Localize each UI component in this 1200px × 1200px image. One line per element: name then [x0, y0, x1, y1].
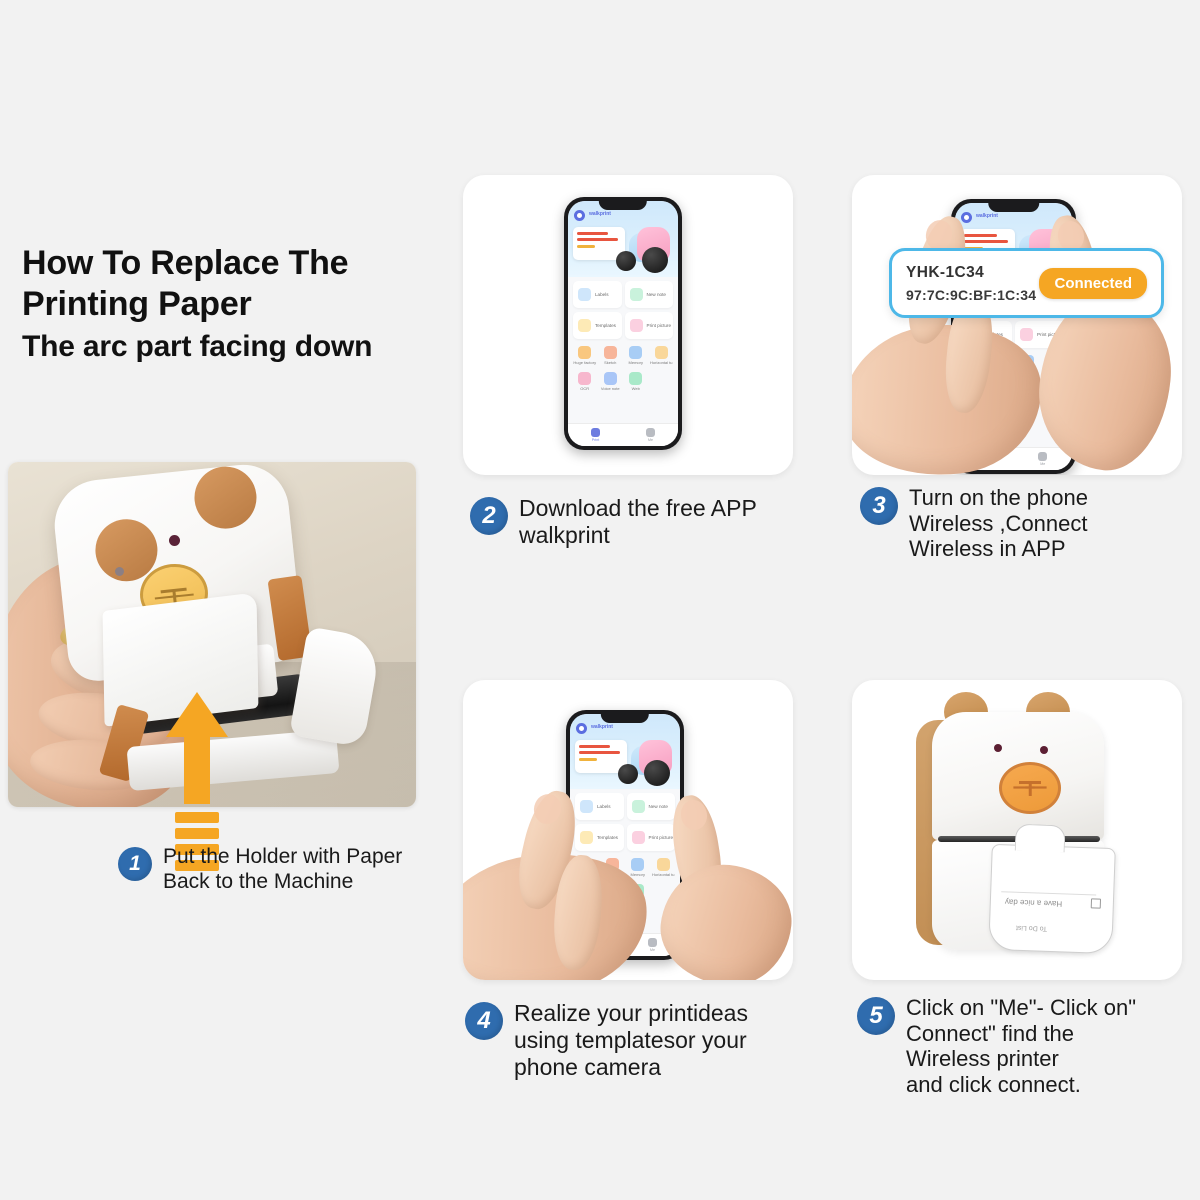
tile-row: Templates Print picture	[570, 820, 680, 851]
tab-label: Print	[981, 462, 988, 466]
promo-line	[577, 232, 608, 235]
app-tile-small[interactable]: Horizontal tu	[651, 858, 677, 877]
step-number-badge: 3	[860, 487, 898, 525]
voice-note-icon	[993, 381, 1006, 394]
promo-line	[964, 234, 997, 237]
arrow-trail-dash	[175, 812, 219, 823]
app-tile-templates[interactable]: Templates	[575, 824, 624, 851]
step-1: 1 Put the Holder with Paper Back to the …	[118, 845, 458, 894]
promo-printer-lens	[644, 760, 670, 786]
memory-icon	[629, 346, 642, 359]
printer-illustration: Have a nice day To Do List	[902, 694, 1137, 969]
tile-label: Memory	[631, 873, 645, 877]
tile-label: New note	[647, 292, 666, 297]
step-caption: Click on "Me"- Click on" Connect" find t…	[906, 995, 1136, 1098]
step-number-badge: 1	[118, 847, 152, 881]
step-3: 3 Turn on the phone Wireless ,Connect Wi…	[860, 485, 1190, 562]
app-tile-new-note[interactable]: New note	[625, 281, 674, 308]
ocr-icon	[966, 381, 979, 394]
app-tile-labels[interactable]: Labels	[573, 281, 622, 308]
app-tile-small[interactable]: Memory	[625, 858, 651, 877]
templates-icon	[578, 319, 591, 332]
app-brand-label: walkprint	[976, 213, 998, 219]
tile-label: Horizontal tu	[650, 361, 672, 365]
huge-factory-icon	[580, 858, 593, 871]
tile-label: Print picture	[647, 323, 672, 328]
tile-label: Web	[634, 899, 642, 903]
app-tile-small[interactable]: Huge factory	[572, 346, 598, 365]
bear-eye-left	[115, 567, 124, 576]
app-tile-spacer	[651, 884, 677, 903]
phone-mockup: walkprint	[564, 197, 682, 450]
card-step-2: walkprint	[463, 175, 793, 475]
phone-mockup: walkprint	[951, 199, 1076, 474]
arrow-shaft	[184, 730, 210, 804]
promo-printer-lens	[618, 764, 638, 784]
step-4: 4 Realize your printideas using template…	[465, 1000, 805, 1081]
tile-label: Sketch	[606, 873, 618, 877]
step-caption: Realize your printideas using templateso…	[514, 1000, 748, 1081]
print-tab-icon	[980, 452, 989, 461]
app-tile-small[interactable]: Horizontal tu	[649, 346, 675, 365]
tile-label: Horizontal tu	[1043, 370, 1065, 374]
tile-label: Print picture	[1037, 332, 1062, 337]
print-picture-icon	[1020, 328, 1033, 341]
sticker-text-sub: To Do List	[1016, 924, 1047, 932]
tile-label: Huge factory	[575, 873, 598, 877]
page-title: How To Replace The Printing Paper The ar…	[22, 243, 452, 365]
app-tile-small[interactable]: Sketch	[986, 355, 1013, 374]
web-icon	[631, 884, 644, 897]
tile-row: Templates Print picture	[955, 317, 1072, 348]
snout-line	[1029, 782, 1032, 796]
tab-print[interactable]: Print	[568, 424, 623, 446]
templates-icon	[580, 831, 593, 844]
fingernail	[531, 791, 564, 826]
step-2: 2 Download the free APP walkprint	[470, 495, 820, 549]
popup-text: YHK-1C34 97:7C:9C:BF:1C:34	[906, 264, 1039, 303]
voice-note-icon	[606, 884, 619, 897]
memory-icon	[1021, 355, 1034, 368]
tab-me[interactable]: Me	[623, 424, 678, 446]
tile-label: Voice note	[603, 899, 622, 903]
tile-label: Templates	[597, 835, 618, 840]
tile-row: Templates Print picture	[568, 308, 678, 339]
sketch-icon	[604, 346, 617, 359]
app-tile-small[interactable]: Huge factory	[959, 355, 986, 374]
app-tile-print-picture[interactable]: Print picture	[627, 824, 676, 851]
phone-screen: walkprint	[570, 714, 680, 956]
app-tile-grid: Labels New note Templates	[570, 789, 680, 956]
app-header: walkprint	[568, 201, 678, 277]
app-header: walkprint	[570, 714, 680, 789]
tile-label: Sketch	[994, 370, 1006, 374]
app-tab-bar: Print Me	[955, 447, 1072, 470]
app-tile-small[interactable]: OCR	[572, 372, 598, 391]
me-tab-icon	[646, 428, 655, 437]
app-brand-label: walkprint	[591, 724, 613, 730]
tile-label: Web	[632, 387, 640, 391]
templates-icon	[965, 328, 978, 341]
tile-row-small: OCR Voice note Web	[568, 365, 678, 391]
app-tile-templates[interactable]: Templates	[573, 312, 622, 339]
card-step-4: walkprint	[463, 680, 793, 980]
bear-eye-right	[1040, 746, 1048, 754]
promo-line	[577, 238, 618, 241]
app-tile-print-picture[interactable]: Print picture	[625, 312, 674, 339]
device-mac-address: 97:7C:9C:BF:1C:34	[906, 287, 1039, 303]
tile-label: Huge factory	[573, 361, 596, 365]
tile-label: Labels	[597, 804, 611, 809]
tile-label: Templates	[982, 332, 1003, 337]
print-tab-icon	[591, 428, 600, 437]
app-logo-icon	[961, 212, 972, 223]
tile-label: Print picture	[649, 835, 674, 840]
labels-icon	[580, 800, 593, 813]
app-tile-small[interactable]: OCR	[959, 381, 986, 400]
step-caption: Download the free APP walkprint	[519, 495, 757, 549]
tab-me[interactable]: Me	[625, 934, 680, 956]
print-picture-icon	[632, 831, 645, 844]
promo-printer-illustration	[625, 736, 678, 780]
app-tile-small[interactable]: OCR	[574, 884, 600, 903]
promo-line	[579, 745, 610, 748]
card-step-3: walkprint	[852, 175, 1182, 475]
tile-row: Labels New note	[570, 789, 680, 820]
app-tile-spacer	[1041, 381, 1068, 400]
tile-row-small: Huge factory Sketch Memory Horizont	[568, 339, 678, 365]
title-line-1: How To Replace The	[22, 243, 452, 284]
step-caption: Put the Holder with Paper Back to the Ma…	[163, 845, 402, 894]
title-line-3: The arc part facing down	[22, 329, 452, 365]
app-tab-bar: Print Me	[568, 423, 678, 446]
huge-factory-icon	[578, 346, 591, 359]
tile-label: Horizontal tu	[652, 873, 674, 877]
app-tile-small[interactable]: Memory	[623, 346, 649, 365]
tab-label: Me	[1040, 462, 1045, 466]
app-tab-bar: Print Me	[570, 933, 680, 956]
step-number-badge: 2	[470, 497, 508, 535]
tile-label: Huge factory	[961, 370, 984, 374]
ocr-icon	[578, 372, 591, 385]
sticker-checkbox	[1091, 898, 1101, 908]
sticker-tab	[1015, 824, 1066, 853]
app-tile-small[interactable]: Huge factory	[574, 858, 600, 877]
app-tile-new-note[interactable]: New note	[627, 793, 676, 820]
tab-print[interactable]: Print	[955, 448, 1014, 470]
status-badge-connected[interactable]: Connected	[1039, 268, 1147, 299]
infographic-stage: How To Replace The Printing Paper The ar…	[0, 0, 1200, 1200]
app-tile-small[interactable]: Sketch	[598, 346, 624, 365]
tile-row-small: OCR Voice note Web	[955, 374, 1072, 400]
tile-row: Labels New note	[568, 277, 678, 308]
phone-mockup: walkprint	[566, 710, 684, 960]
tile-label: OCR	[582, 899, 591, 903]
step-5: 5 Click on "Me"- Click on" Connect" find…	[857, 995, 1197, 1098]
huge-factory-icon	[966, 355, 979, 368]
app-tile-spacer	[649, 372, 675, 391]
me-tab-icon	[648, 938, 657, 947]
card-step-5: Have a nice day To Do List	[852, 680, 1182, 980]
phone-notch	[599, 201, 647, 210]
app-tile-small[interactable]: Horizontal tu	[1041, 355, 1068, 374]
app-tile-templates[interactable]: Templates	[960, 321, 1012, 348]
web-icon	[629, 372, 642, 385]
app-tile-small[interactable]: Memory	[1014, 355, 1041, 374]
new-note-icon	[630, 288, 643, 301]
phone-notch	[988, 203, 1039, 212]
promo-line	[579, 758, 597, 761]
horizontal-icon	[655, 346, 668, 359]
step-number-badge: 5	[857, 997, 895, 1035]
sketch-icon	[606, 858, 619, 871]
app-tile-small[interactable]: Web	[623, 372, 649, 391]
step-number-badge: 4	[465, 1002, 503, 1040]
tab-label: Me	[650, 948, 655, 952]
sticker-line	[1001, 891, 1096, 896]
tab-print[interactable]: Print	[570, 934, 625, 956]
print-picture-icon	[630, 319, 643, 332]
tab-label: Print	[592, 438, 599, 442]
memory-icon	[631, 858, 644, 871]
tile-label: Memory	[1020, 370, 1034, 374]
app-logo-icon	[576, 723, 587, 734]
app-tile-small[interactable]: Web	[1014, 381, 1041, 400]
tile-label: Memory	[629, 361, 643, 365]
app-tile-small[interactable]: Voice note	[986, 381, 1013, 400]
new-note-icon	[632, 800, 645, 813]
device-name: YHK-1C34	[906, 264, 1039, 282]
bear-eye-right	[169, 535, 180, 546]
app-tile-small[interactable]: Sketch	[600, 858, 626, 877]
print-tab-icon	[593, 938, 602, 947]
app-brand-label: walkprint	[589, 211, 611, 217]
labels-icon	[578, 288, 591, 301]
phone-notch	[601, 714, 649, 723]
printer-connection-popup[interactable]: YHK-1C34 97:7C:9C:BF:1C:34 Connected	[889, 248, 1164, 318]
printed-sticker: Have a nice day To Do List	[988, 844, 1116, 954]
me-tab-icon	[1038, 452, 1047, 461]
promo-line	[964, 240, 1008, 243]
app-tile-labels[interactable]: Labels	[575, 793, 624, 820]
tile-label: Sketch	[604, 361, 616, 365]
arrow-trail-dash	[175, 828, 219, 839]
tab-label: Me	[648, 438, 653, 442]
phone-screen: walkprint	[955, 203, 1072, 470]
voice-note-icon	[604, 372, 617, 385]
bear-snout	[999, 762, 1061, 814]
title-line-2: Printing Paper	[22, 284, 452, 325]
promo-line	[577, 245, 595, 248]
tile-label: OCR	[968, 396, 977, 400]
sketch-icon	[993, 355, 1006, 368]
tile-label: OCR	[580, 387, 589, 391]
ocr-icon	[580, 884, 593, 897]
app-tile-small[interactable]: Voice note	[600, 884, 626, 903]
tile-label: Web	[1023, 396, 1031, 400]
horizontal-icon	[657, 858, 670, 871]
horizontal-icon	[1048, 355, 1061, 368]
step-caption: Turn on the phone Wireless ,Connect Wire…	[909, 485, 1088, 562]
sticker-text-main: Have a nice day	[1005, 897, 1063, 908]
promo-printer-lens	[616, 251, 636, 271]
bear-ear-right	[191, 464, 259, 532]
tile-label: New note	[649, 804, 668, 809]
app-tile-grid: Labels New note Templates	[568, 277, 678, 446]
app-logo-icon	[574, 210, 585, 221]
promo-printer-lens	[642, 247, 668, 273]
tile-label: Labels	[595, 292, 609, 297]
tile-row-small: OCR Voice note Web	[570, 877, 680, 903]
tile-label: Templates	[595, 323, 616, 328]
app-tile-small[interactable]: Voice note	[598, 372, 624, 391]
app-tile-small[interactable]: Web	[625, 884, 651, 903]
promo-printer-illustration	[623, 223, 676, 267]
bear-eye-left	[994, 744, 1002, 752]
phone-screen: walkprint	[568, 201, 678, 446]
direction-arrow-up	[166, 692, 228, 804]
tile-row-small: Huge factory Sketch Memory Horizont	[955, 348, 1072, 374]
tab-label: Print	[594, 948, 601, 952]
tile-row-small: Huge factory Sketch Memory Horizont	[570, 851, 680, 877]
tile-label: Voice note	[601, 387, 620, 391]
tab-me[interactable]: Me	[1014, 448, 1073, 470]
web-icon	[1021, 381, 1034, 394]
app-tile-print-picture[interactable]: Print picture	[1015, 321, 1067, 348]
promo-line	[579, 751, 620, 754]
tile-label: Voice note	[991, 396, 1010, 400]
